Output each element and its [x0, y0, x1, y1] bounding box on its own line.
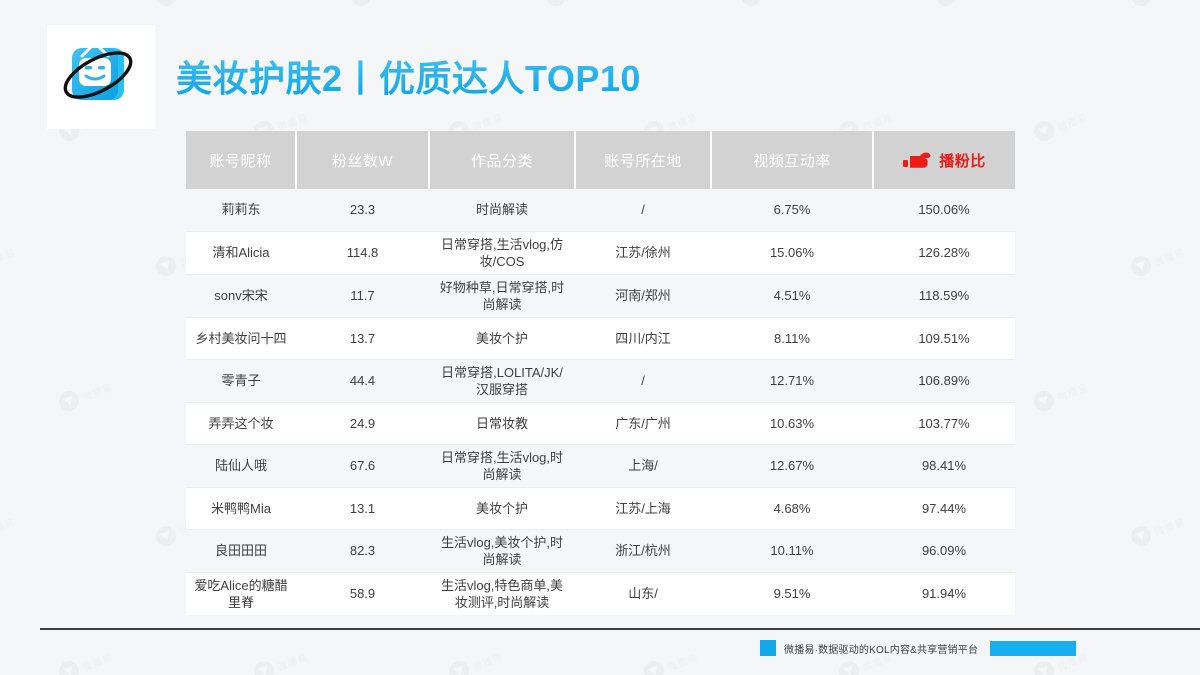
watermark-mark: 微播易 — [56, 376, 115, 414]
cell-fans: 82.3 — [296, 529, 429, 572]
column-header-interaction-rate: 视频互动率 — [711, 131, 873, 189]
cell-fans: 67.6 — [296, 444, 429, 487]
footer-color-swatch — [760, 640, 776, 656]
cell-category: 日常穿搭,生活vlog,仿妆/COS — [429, 231, 575, 274]
cell-fans: 13.7 — [296, 317, 429, 359]
cell-location: 山东/ — [575, 572, 711, 615]
cell-fans: 114.8 — [296, 231, 429, 274]
cell-category: 日常穿搭,生活vlog,时尚解读 — [429, 444, 575, 487]
watermark-text: 微播易 — [274, 648, 309, 673]
watermark-shield-icon — [1031, 658, 1057, 675]
watermark-text: 微播易 — [1152, 513, 1187, 538]
cell-category: 日常妆教 — [429, 402, 575, 444]
cell-ratio: 126.28% — [873, 231, 1015, 274]
watermark-text: 微播易 — [469, 648, 504, 673]
watermark-shield-icon — [251, 658, 277, 675]
cell-category: 日常穿搭,LOLITA/JK/汉服穿搭 — [429, 359, 575, 402]
cell-location: 江苏/徐州 — [575, 231, 711, 274]
table-row: 陆仙人哦67.6日常穿搭,生活vlog,时尚解读上海/12.67%98.41% — [186, 444, 1015, 487]
watermark-mark: 微播易 — [0, 241, 17, 279]
watermark-mark: 微播易 — [251, 646, 310, 675]
table-row: 乡村美妆问十四13.7美妆个护四川/内江8.11%109.51% — [186, 317, 1015, 359]
watermark-mark: 微播易 — [1128, 511, 1187, 549]
watermark-mark: 微播易 — [446, 646, 505, 675]
pointing-hand-icon — [903, 149, 933, 171]
table-header: 账号昵称 粉丝数W 作品分类 账号所在地 视频互动率 播粉比 — [186, 131, 1015, 189]
cell-category: 生活vlog,特色商单,美妆测评,时尚解读 — [429, 572, 575, 615]
cell-location: 上海/ — [575, 444, 711, 487]
logo-card — [47, 25, 155, 129]
table-row: 零青子44.4日常穿搭,LOLITA/JK/汉服穿搭/12.71%106.89% — [186, 359, 1015, 402]
column-header-play-fan-ratio: 播粉比 — [873, 131, 1015, 189]
cell-fans: 58.9 — [296, 572, 429, 615]
watermark-mark: 微播易 — [1128, 241, 1187, 279]
cell-nickname: 弄弄这个妆 — [186, 402, 296, 444]
cell-interaction: 12.71% — [711, 359, 873, 402]
watermark-text: 微播易 — [0, 243, 16, 268]
cell-interaction: 9.51% — [711, 572, 873, 615]
cell-fans: 44.4 — [296, 359, 429, 402]
cell-location: 浙江/杭州 — [575, 529, 711, 572]
cell-location: 广东/广州 — [575, 402, 711, 444]
footer-divider — [40, 628, 1200, 630]
cell-ratio: 109.51% — [873, 317, 1015, 359]
cell-ratio: 98.41% — [873, 444, 1015, 487]
cell-interaction: 10.11% — [711, 529, 873, 572]
watermark-text: 微播易 — [79, 648, 114, 673]
cell-interaction: 4.51% — [711, 274, 873, 317]
cell-nickname: 零青子 — [186, 359, 296, 402]
cell-fans: 11.7 — [296, 274, 429, 317]
watermark-text: 微播易 — [1152, 243, 1187, 268]
cell-interaction: 4.68% — [711, 487, 873, 529]
ranking-table-wrapper: 账号昵称 粉丝数W 作品分类 账号所在地 视频互动率 播粉比 — [186, 131, 1015, 615]
watermark-shield-icon — [1128, 253, 1154, 279]
watermark-shield-icon — [153, 523, 179, 549]
cell-category: 美妆个护 — [429, 317, 575, 359]
watermark-shield-icon — [1128, 523, 1154, 549]
cell-interaction: 6.75% — [711, 189, 873, 231]
bilibili-logo-svg — [58, 34, 144, 120]
watermark-mark: 微播易 — [0, 511, 17, 549]
cell-location: / — [575, 189, 711, 231]
cell-location: / — [575, 359, 711, 402]
cell-category: 好物种草,日常穿搭,时尚解读 — [429, 274, 575, 317]
watermark-text: 微播易 — [664, 648, 699, 673]
table-row: 良田田田82.3生活vlog,美妆个护,时尚解读浙江/杭州10.11%96.09… — [186, 529, 1015, 572]
cell-fans: 23.3 — [296, 189, 429, 231]
watermark-shield-icon — [446, 658, 472, 675]
cell-nickname: sonv宋宋 — [186, 274, 296, 317]
cell-interaction: 15.06% — [711, 231, 873, 274]
table-row: 莉莉东23.3时尚解读/6.75%150.06% — [186, 189, 1015, 231]
cell-ratio: 96.09% — [873, 529, 1015, 572]
watermark-shield-icon — [1031, 388, 1057, 414]
footer-bar: 微播易·数据驱动的KOL内容&共享营销平台 — [760, 637, 1200, 659]
watermark-mark: 微播易 — [641, 646, 700, 675]
column-header-fans: 粉丝数W — [296, 131, 429, 189]
cell-category: 时尚解读 — [429, 189, 575, 231]
column-header-location: 账号所在地 — [575, 131, 711, 189]
watermark-shield-icon — [56, 658, 82, 675]
column-header-category: 作品分类 — [429, 131, 575, 189]
cell-location: 河南/郑州 — [575, 274, 711, 317]
watermark-shield-icon — [56, 388, 82, 414]
cell-nickname: 爱吃Alice的糖醋里脊 — [186, 572, 296, 615]
footer-brand-text: 微播易·数据驱动的KOL内容&共享营销平台 — [784, 641, 978, 656]
watermark-text: 微播易 — [0, 513, 16, 538]
cell-nickname: 乡村美妆问十四 — [186, 317, 296, 359]
cell-location: 四川/内江 — [575, 317, 711, 359]
table-header-row: 账号昵称 粉丝数W 作品分类 账号所在地 视频互动率 播粉比 — [186, 131, 1015, 189]
table-body: 莉莉东23.3时尚解读/6.75%150.06%清和Alicia114.8日常穿… — [186, 189, 1015, 615]
watermark-mark: 微播易 — [56, 646, 115, 675]
table-row: 清和Alicia114.8日常穿搭,生活vlog,仿妆/COS江苏/徐州15.0… — [186, 231, 1015, 274]
footer-color-block — [990, 641, 1076, 656]
cell-fans: 24.9 — [296, 402, 429, 444]
table-row: 米鸭鸭Mia13.1美妆个护江苏/上海4.68%97.44% — [186, 487, 1015, 529]
table-row: sonv宋宋11.7好物种草,日常穿搭,时尚解读河南/郑州4.51%118.59… — [186, 274, 1015, 317]
cell-nickname: 莉莉东 — [186, 189, 296, 231]
watermark-text: 微播易 — [1054, 378, 1089, 403]
watermark-text: 微播易 — [79, 378, 114, 403]
watermark-shield-icon — [836, 658, 862, 675]
cell-ratio: 103.77% — [873, 402, 1015, 444]
table-row: 爱吃Alice的糖醋里脊58.9生活vlog,特色商单,美妆测评,时尚解读山东/… — [186, 572, 1015, 615]
cell-ratio: 106.89% — [873, 359, 1015, 402]
page-title: 美妆护肤2丨优质达人TOP10 — [176, 50, 641, 102]
cell-ratio: 150.06% — [873, 189, 1015, 231]
cell-nickname: 陆仙人哦 — [186, 444, 296, 487]
bilibili-app-icon — [58, 34, 144, 120]
cell-interaction: 10.63% — [711, 402, 873, 444]
cell-location: 江苏/上海 — [575, 487, 711, 529]
table-row: 弄弄这个妆24.9日常妆教广东/广州10.63%103.77% — [186, 402, 1015, 444]
cell-ratio: 91.94% — [873, 572, 1015, 615]
watermark-shield-icon — [641, 658, 667, 675]
cell-nickname: 良田田田 — [186, 529, 296, 572]
watermark-mark: 微播易 — [1031, 376, 1090, 414]
cell-nickname: 清和Alicia — [186, 231, 296, 274]
cell-category: 美妆个护 — [429, 487, 575, 529]
column-header-nickname: 账号昵称 — [186, 131, 296, 189]
cell-ratio: 118.59% — [873, 274, 1015, 317]
cell-fans: 13.1 — [296, 487, 429, 529]
slide-header: 美妆护肤2丨优质达人TOP10 — [0, 0, 1200, 130]
watermark-shield-icon — [153, 253, 179, 279]
cell-interaction: 12.67% — [711, 444, 873, 487]
cell-ratio: 97.44% — [873, 487, 1015, 529]
column-header-play-fan-ratio-label: 播粉比 — [939, 150, 986, 171]
cell-interaction: 8.11% — [711, 317, 873, 359]
cell-category: 生活vlog,美妆个护,时尚解读 — [429, 529, 575, 572]
ranking-table: 账号昵称 粉丝数W 作品分类 账号所在地 视频互动率 播粉比 — [186, 131, 1015, 615]
cell-nickname: 米鸭鸭Mia — [186, 487, 296, 529]
